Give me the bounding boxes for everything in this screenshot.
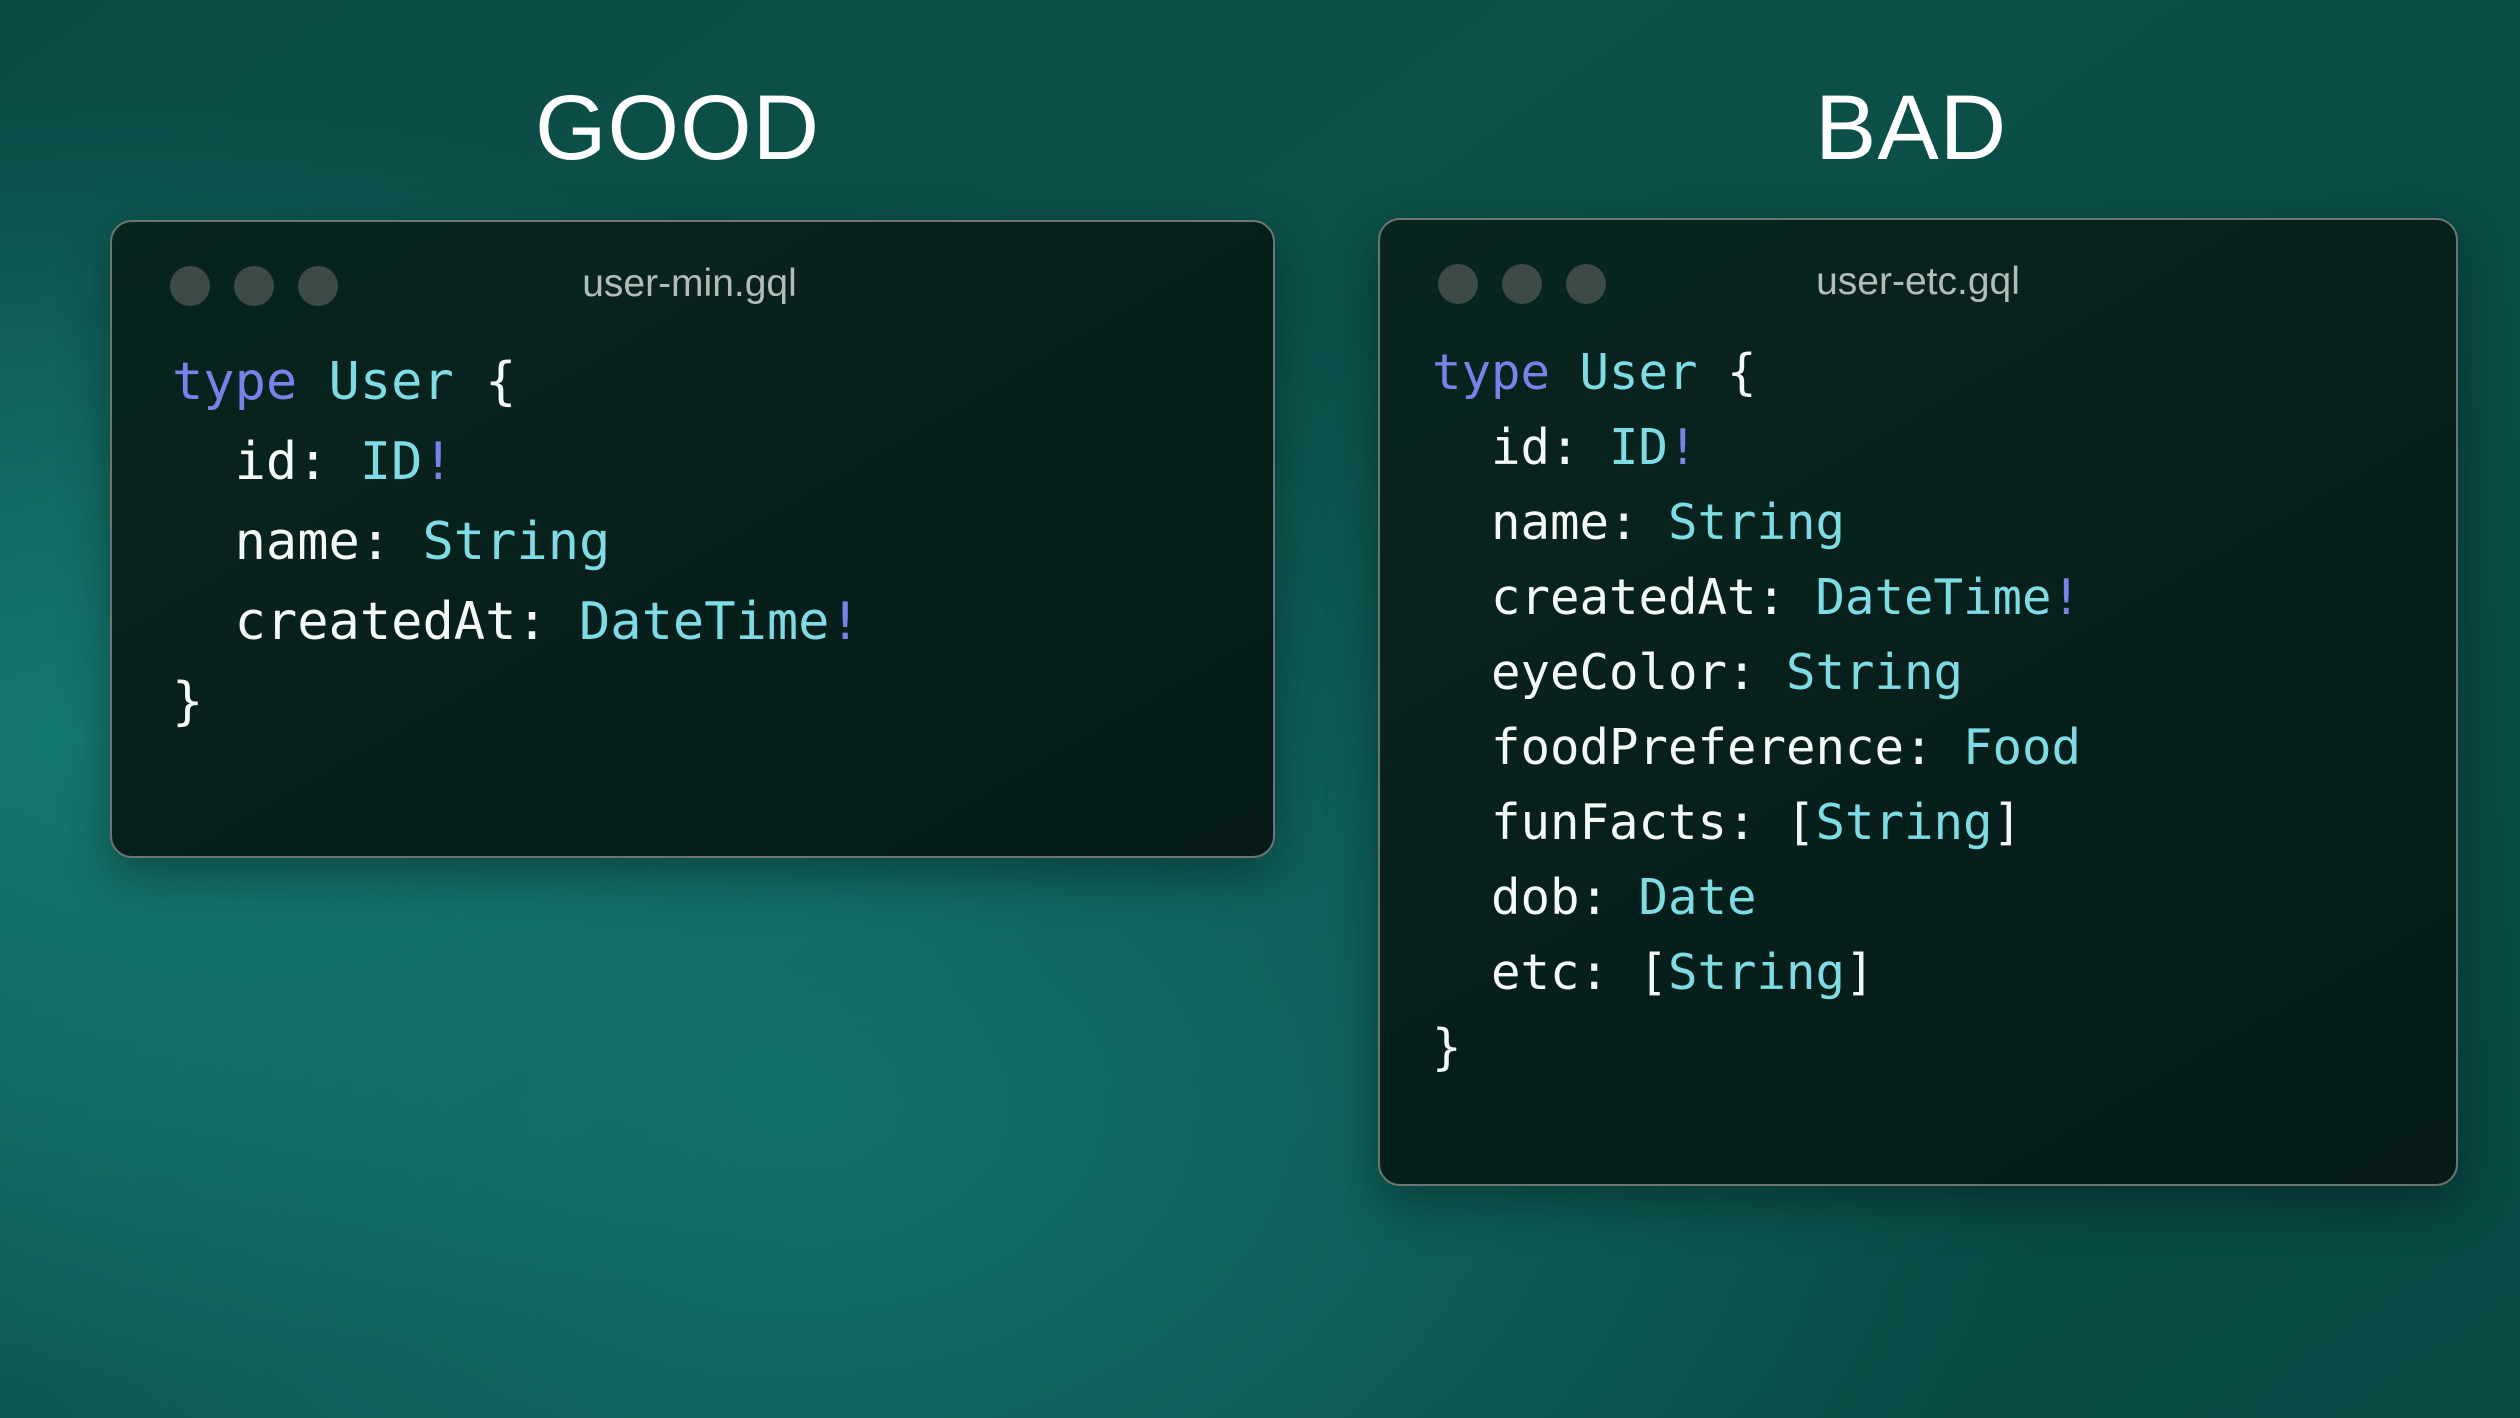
- code-token-type: User: [1580, 344, 1698, 401]
- code-token-type: Date: [1639, 869, 1757, 926]
- code-token-kw: type: [172, 352, 297, 412]
- code-line: type User {: [1432, 335, 2456, 410]
- bad-heading: BAD: [1815, 82, 2007, 174]
- code-token-field: funFacts: [1432, 794, 1727, 851]
- code-token-type: ID: [360, 432, 423, 492]
- good-code-block: type User { id: ID! name: String created…: [112, 327, 1273, 742]
- code-line: id: ID!: [172, 422, 1273, 502]
- code-token-type: String: [1786, 644, 1963, 701]
- code-token-punct: :: [1580, 869, 1639, 926]
- code-token-punct: {: [1698, 344, 1757, 401]
- code-line: id: ID!: [1432, 410, 2456, 485]
- bad-window-titlebar: user-etc.gql: [1380, 220, 2456, 330]
- code-token-type: String: [422, 512, 610, 572]
- code-token-field: name: [1432, 494, 1609, 551]
- code-token-type: String: [1668, 944, 1845, 1001]
- code-token-bang: !: [829, 592, 860, 652]
- code-line: funFacts: [String]: [1432, 785, 2456, 860]
- code-line: name: String: [172, 502, 1273, 582]
- code-line: foodPreference: Food: [1432, 710, 2456, 785]
- code-token-punct: ]: [1993, 794, 2023, 851]
- code-line: type User {: [172, 342, 1273, 422]
- code-token-punct: }: [1432, 1019, 1462, 1076]
- code-token-punct: {: [454, 352, 517, 412]
- code-token-bang: !: [422, 432, 453, 492]
- code-token-punct: ]: [1845, 944, 1875, 1001]
- code-token-field: eyeColor: [1432, 644, 1727, 701]
- code-line: etc: [String]: [1432, 935, 2456, 1010]
- bad-code-block: type User { id: ID! name: String created…: [1380, 330, 2456, 1085]
- code-token-type: DateTime: [579, 592, 829, 652]
- code-token-type: User: [329, 352, 454, 412]
- code-token-bang: !: [2052, 569, 2082, 626]
- bad-window-filename: user-etc.gql: [1380, 262, 2456, 301]
- good-window-filename: user-min.gql: [112, 264, 1273, 303]
- good-heading: GOOD: [535, 82, 820, 174]
- code-token-punct: :: [1904, 719, 1963, 776]
- bad-code-window: user-etc.gql type User { id: ID! name: S…: [1378, 218, 2458, 1186]
- code-token-type: String: [1668, 494, 1845, 551]
- code-line: dob: Date: [1432, 860, 2456, 935]
- code-line: }: [172, 662, 1273, 742]
- good-code-window: user-min.gql type User { id: ID! name: S…: [110, 220, 1275, 858]
- code-token-field: dob: [1432, 869, 1580, 926]
- code-token-type: String: [1816, 794, 1993, 851]
- code-token-field: etc: [1432, 944, 1580, 1001]
- comparison-stage: GOOD user-min.gql type User { id: ID! na…: [0, 0, 2520, 1418]
- code-token-punct: :: [1550, 419, 1609, 476]
- code-token-type: DateTime: [1816, 569, 2052, 626]
- good-window-titlebar: user-min.gql: [112, 222, 1273, 327]
- code-line: name: String: [1432, 485, 2456, 560]
- code-token-punct: :: [516, 592, 579, 652]
- code-token-punct: :: [297, 432, 360, 492]
- code-token-punct: :: [1757, 569, 1816, 626]
- code-token-punct: [297, 352, 328, 412]
- code-token-field: foodPreference: [1432, 719, 1904, 776]
- code-token-field: name: [172, 512, 360, 572]
- code-line: eyeColor: String: [1432, 635, 2456, 710]
- code-token-bang: !: [1668, 419, 1698, 476]
- code-token-kw: type: [1432, 344, 1550, 401]
- code-line: createdAt: DateTime!: [172, 582, 1273, 662]
- code-token-punct: :: [1609, 494, 1668, 551]
- code-token-field: createdAt: [1432, 569, 1757, 626]
- code-line: createdAt: DateTime!: [1432, 560, 2456, 635]
- code-token-field: id: [1432, 419, 1550, 476]
- code-token-punct: [1550, 344, 1580, 401]
- code-token-punct: : [: [1727, 794, 1816, 851]
- code-token-punct: :: [1727, 644, 1786, 701]
- code-token-type: Food: [1963, 719, 2081, 776]
- code-token-punct: :: [360, 512, 423, 572]
- code-token-type: ID: [1609, 419, 1668, 476]
- code-token-field: id: [172, 432, 297, 492]
- code-token-punct: : [: [1580, 944, 1669, 1001]
- code-token-punct: }: [172, 672, 203, 732]
- code-token-field: createdAt: [172, 592, 516, 652]
- code-line: }: [1432, 1010, 2456, 1085]
